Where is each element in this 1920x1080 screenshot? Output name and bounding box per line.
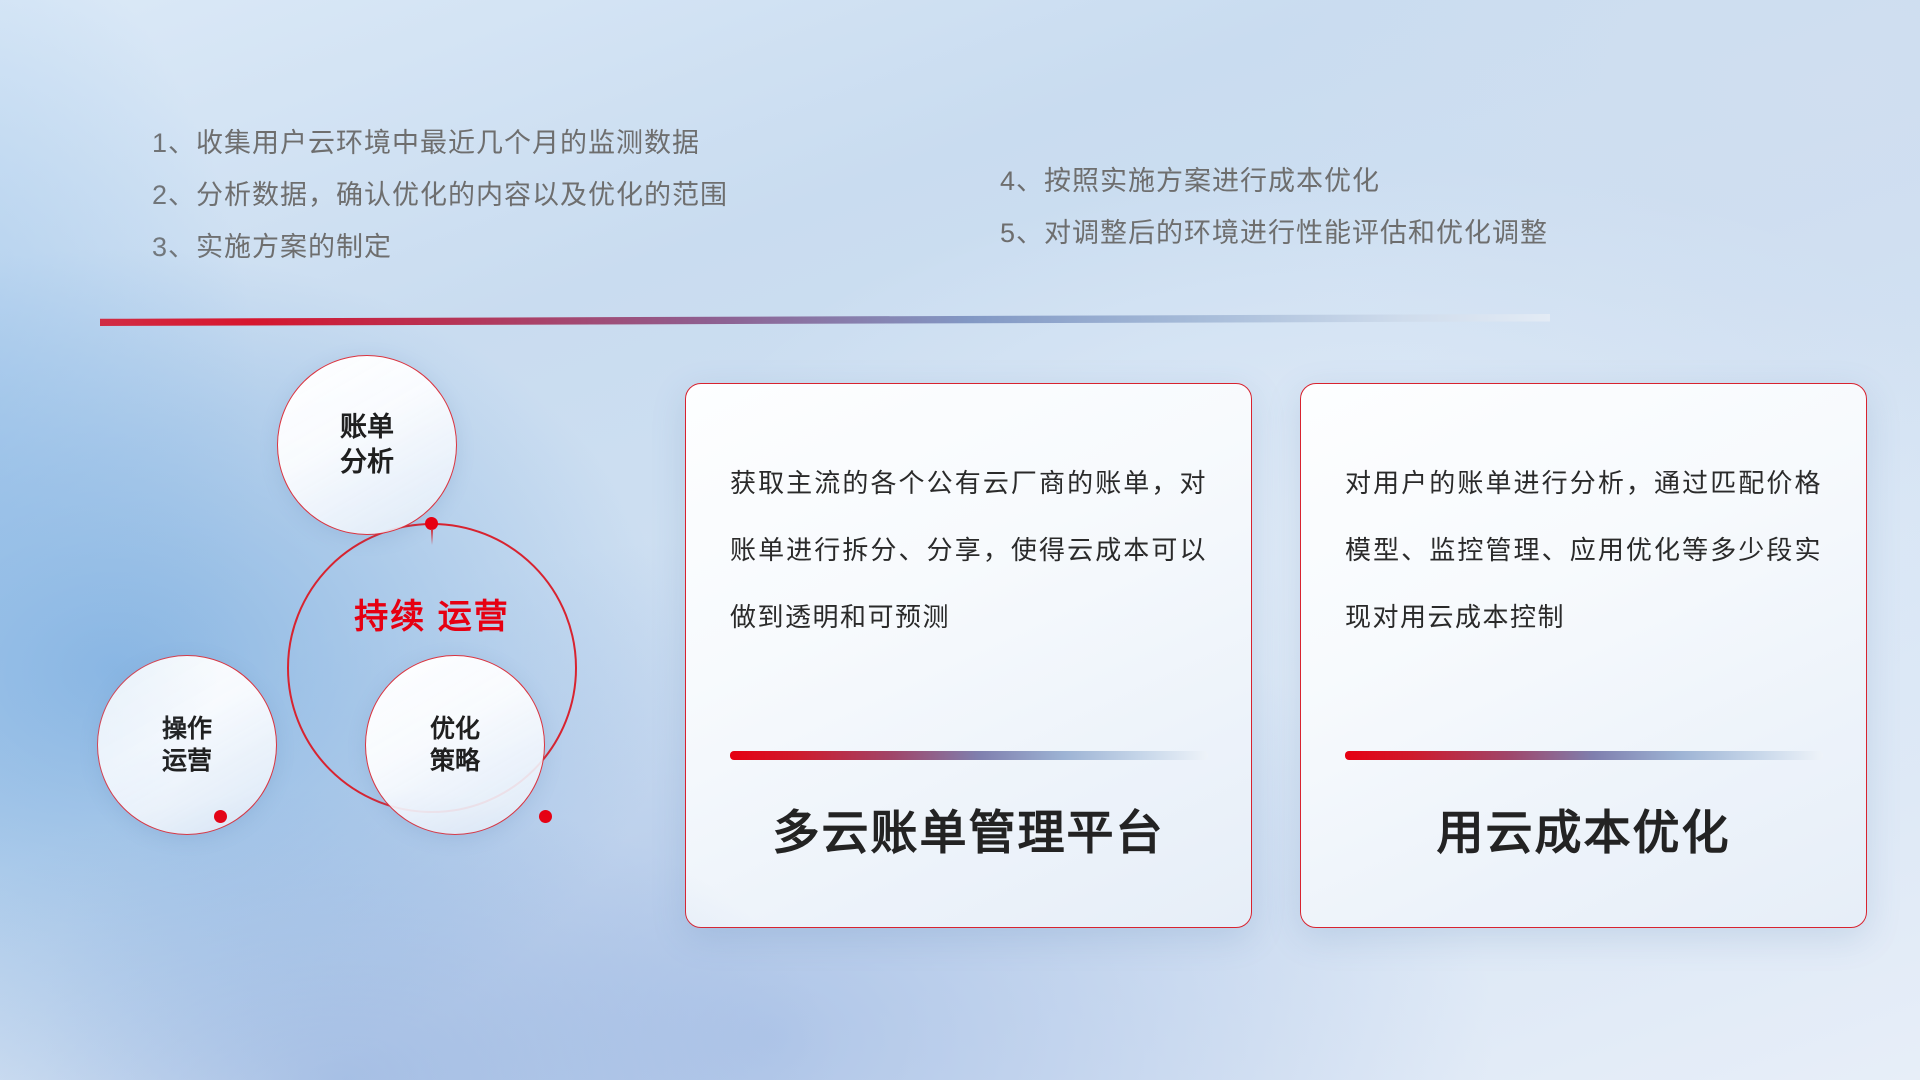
feature-card-1-body: 获取主流的各个公有云厂商的账单，对账单进行拆分、分享，使得云成本可以做到透明和可… <box>730 450 1207 651</box>
cycle-center-line-2: 运营 <box>438 598 510 636</box>
feature-card-2-rule <box>1345 751 1823 760</box>
process-step-4: 4、按照实施方案进行成本优化 <box>1000 155 1548 207</box>
process-step-5: 5、对调整后的环境进行性能评估和优化调整 <box>1000 207 1548 259</box>
section-divider <box>100 314 1550 326</box>
cycle-diagram: 持续 运营 账单 分析 操作 运营 优化 策略 <box>95 355 615 925</box>
cycle-center-line-1: 持续 <box>354 598 426 636</box>
feature-card-cost-optimization[interactable]: 对用户的账单进行分析，通过匹配价格模型、监控管理、应用优化等多少段实现对用云成本… <box>1300 383 1867 928</box>
cycle-marker-dot-right <box>539 810 552 823</box>
feature-card-2-body: 对用户的账单进行分析，通过匹配价格模型、监控管理、应用优化等多少段实现对用云成本… <box>1345 450 1822 651</box>
cycle-node-operations-line-2: 运营 <box>162 745 212 777</box>
process-step-2: 2、分析数据，确认优化的内容以及优化的范围 <box>152 169 728 221</box>
feature-card-multicloud-billing[interactable]: 获取主流的各个公有云厂商的账单，对账单进行拆分、分享，使得云成本可以做到透明和可… <box>685 383 1252 928</box>
process-steps-left: 1、收集用户云环境中最近几个月的监测数据 2、分析数据，确认优化的内容以及优化的… <box>152 117 728 273</box>
process-step-1: 1、收集用户云环境中最近几个月的监测数据 <box>152 117 728 169</box>
cycle-marker-dot-left <box>214 810 227 823</box>
cycle-node-optimization-strategy-line-1: 优化 <box>430 713 480 745</box>
cycle-node-operations-line-1: 操作 <box>162 713 212 745</box>
cycle-node-bill-analysis-line-2: 分析 <box>340 445 394 480</box>
feature-card-2-title: 用云成本优化 <box>1301 794 1866 863</box>
process-step-3: 3、实施方案的制定 <box>152 221 728 273</box>
cycle-node-bill-analysis-line-1: 账单 <box>340 410 394 445</box>
cycle-tick-top <box>431 529 433 545</box>
cycle-node-bill-analysis[interactable]: 账单 分析 <box>277 355 457 535</box>
feature-card-1-title: 多云账单管理平台 <box>686 794 1251 863</box>
feature-card-1-rule <box>730 751 1208 760</box>
slide-canvas: 1、收集用户云环境中最近几个月的监测数据 2、分析数据，确认优化的内容以及优化的… <box>0 0 1920 1080</box>
cycle-center-label: 持续 运营 <box>287 595 577 639</box>
process-steps-right: 4、按照实施方案进行成本优化 5、对调整后的环境进行性能评估和优化调整 <box>1000 155 1548 259</box>
cycle-node-operations[interactable]: 操作 运营 <box>97 655 277 835</box>
cycle-node-optimization-strategy-line-2: 策略 <box>430 745 480 777</box>
cycle-node-optimization-strategy[interactable]: 优化 策略 <box>365 655 545 835</box>
